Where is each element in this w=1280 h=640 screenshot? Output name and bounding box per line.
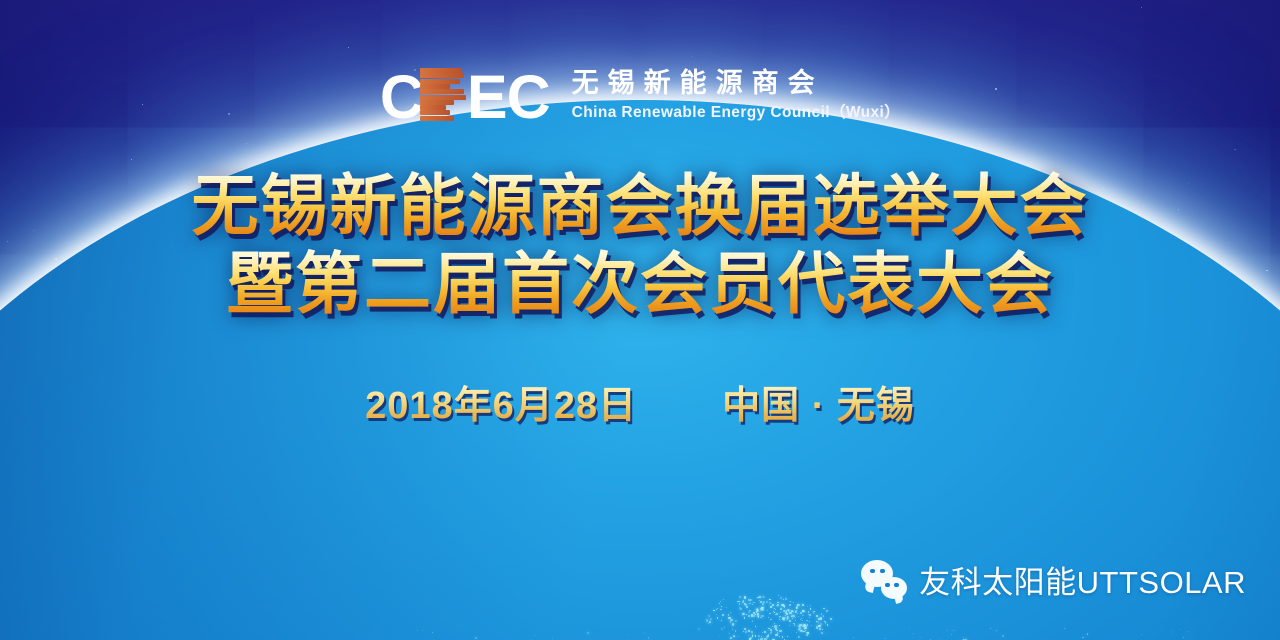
wechat-account-name: 友科太阳能UTTSOLAR — [919, 557, 1246, 602]
wechat-eye-1 — [870, 569, 875, 574]
wechat-bubble-small — [881, 577, 907, 599]
wechat-eye-4 — [894, 583, 899, 588]
event-title-line2: 暨第二届首次会员代表大会 — [0, 246, 1280, 324]
wechat-icon — [861, 560, 907, 600]
crec-english-name: China Renewable Energy Council（Wuxi） — [572, 104, 900, 123]
logo-letter-e: E — [467, 71, 507, 123]
crec-name-block: 无锡新能源商会 China Renewable Energy Council（W… — [572, 68, 900, 122]
logo-r-stripe — [420, 68, 462, 73]
logo-r-stripe — [420, 84, 450, 89]
event-meta: 2018年6月28日 中国 · 无锡 — [0, 374, 1280, 429]
logo-letter-c2: C — [507, 71, 550, 123]
event-title: 无锡新能源商会换届选举大会 暨第二届首次会员代表大会 — [0, 168, 1280, 325]
event-title-line1: 无锡新能源商会换届选举大会 — [0, 168, 1280, 246]
logo-r-stripe — [420, 110, 450, 115]
logo-r-stripe — [420, 79, 460, 84]
logo-r-stripe — [420, 89, 464, 94]
crec-wordmark: C E C — [380, 68, 550, 123]
logo-r-stripe — [420, 116, 454, 121]
logo-r-stripe — [420, 105, 446, 110]
wechat-eye-2 — [880, 569, 885, 574]
logo-r-stripe — [420, 73, 464, 78]
event-location: 中国 · 无锡 — [722, 385, 915, 427]
crec-logo: C E C 无锡新能源商会 China Renewable Energy Cou… — [0, 68, 1280, 123]
logo-letter-c1: C — [380, 71, 423, 123]
conference-banner: C E C 无锡新能源商会 China Renewable Energy Cou… — [0, 0, 1280, 640]
logo-r-stripe — [420, 100, 454, 105]
wechat-eye-3 — [885, 583, 890, 588]
wechat-watermark: 友科太阳能UTTSOLAR — [861, 557, 1246, 602]
crec-chinese-name: 无锡新能源商会 — [572, 68, 900, 100]
logo-letter-r-striped — [420, 68, 466, 120]
event-date: 2018年6月28日 — [365, 385, 637, 427]
logo-r-stripe — [420, 95, 466, 100]
